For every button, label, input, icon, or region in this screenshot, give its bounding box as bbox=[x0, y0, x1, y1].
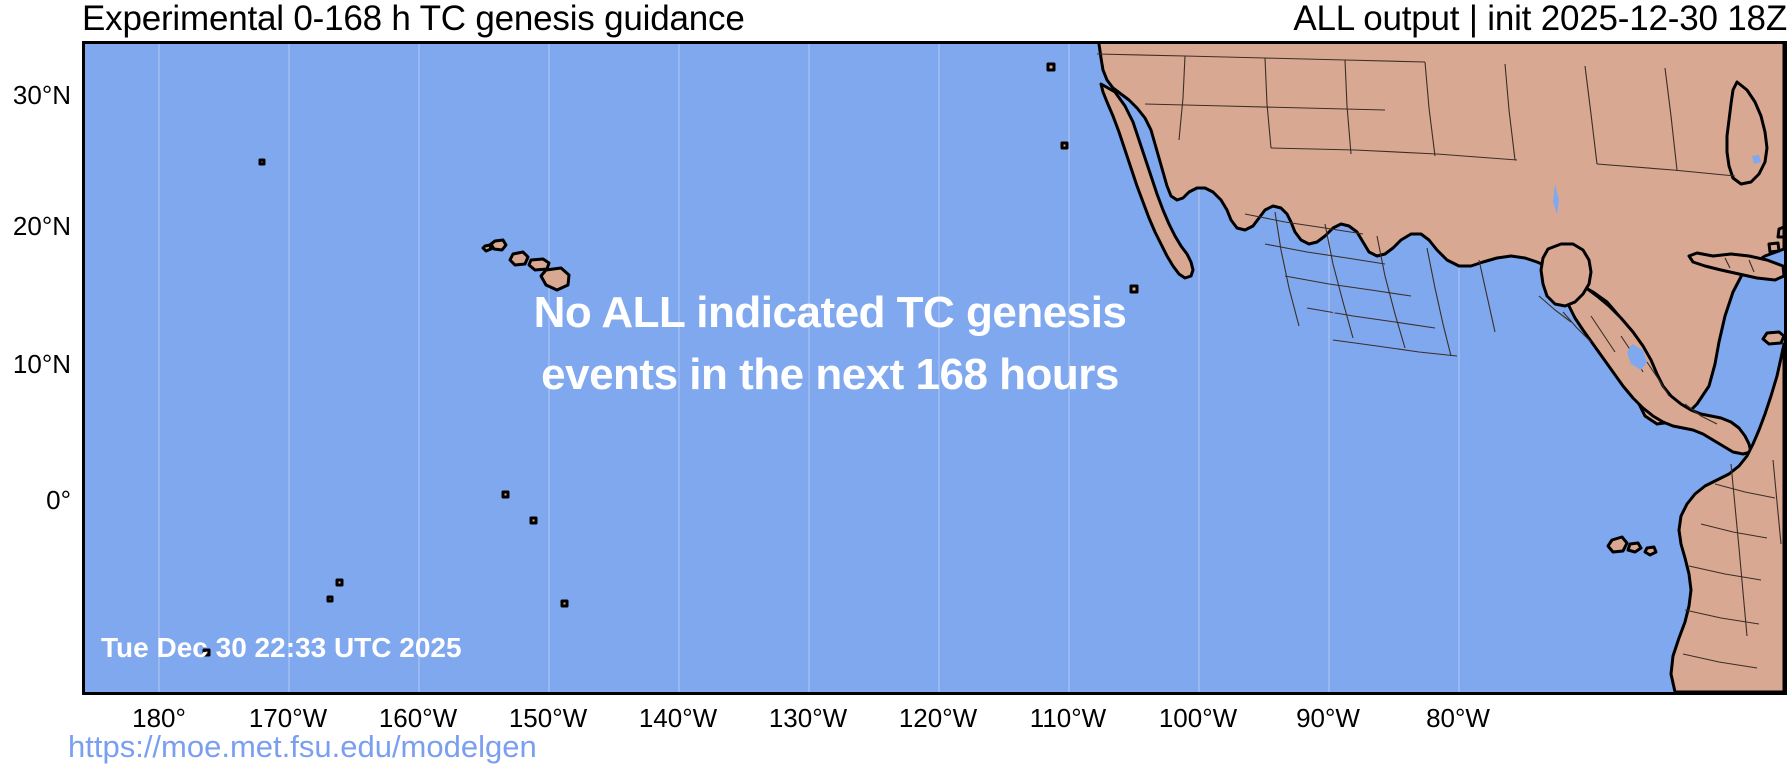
xtick-label-90w: 90°W bbox=[1296, 703, 1360, 734]
map-plot-area: No ALL indicated TC genesis events in th… bbox=[82, 41, 1787, 695]
kauai-island bbox=[491, 240, 506, 250]
xtick-label-100w: 100°W bbox=[1159, 703, 1237, 734]
ytick-label-0: 0° bbox=[0, 485, 71, 516]
xtick-label-110w: 110°W bbox=[1030, 703, 1106, 734]
islet-speck bbox=[1062, 143, 1067, 148]
islet-speck bbox=[260, 160, 264, 164]
islet-speck bbox=[328, 597, 332, 601]
islet-speck bbox=[503, 492, 508, 497]
islet-speck bbox=[1048, 64, 1054, 70]
san-cristobal-island bbox=[1645, 547, 1656, 555]
xtick-label-120w: 120°W bbox=[899, 703, 977, 734]
source-url[interactable]: https://moe.met.fsu.edu/modelgen bbox=[68, 729, 537, 765]
xtick-label-130w: 130°W bbox=[769, 703, 847, 734]
xtick-label-80w: 80°W bbox=[1426, 703, 1490, 734]
ytick-label-20n: 20°N bbox=[0, 211, 71, 242]
ytick-label-10n: 10°N bbox=[0, 349, 71, 380]
tc-genesis-guidance-figure: Experimental 0-168 h TC genesis guidance… bbox=[0, 0, 1789, 768]
islet-speck bbox=[562, 601, 567, 606]
figure-title: Experimental 0-168 h TC genesis guidance bbox=[82, 0, 745, 39]
figure-header: Experimental 0-168 h TC genesis guidance… bbox=[0, 0, 1789, 41]
santa-cruz-island bbox=[1628, 543, 1641, 552]
ytick-label-30n: 30°N bbox=[0, 80, 71, 111]
islet-speck bbox=[1131, 286, 1137, 292]
run-timestamp: Tue Dec 30 22:33 UTC 2025 bbox=[101, 632, 462, 664]
molokai-maui-islands bbox=[529, 259, 549, 270]
oahu-island bbox=[510, 252, 528, 265]
islet-speck bbox=[531, 518, 536, 523]
xtick-label-140w: 140°W bbox=[639, 703, 717, 734]
islet-speck bbox=[337, 580, 342, 585]
map-svg bbox=[85, 44, 1784, 692]
figure-subtitle-init: ALL output | init 2025-12-30 18Z bbox=[1293, 0, 1787, 39]
isabela-island bbox=[1608, 537, 1627, 552]
niihau-island bbox=[483, 245, 491, 251]
jamaica-island bbox=[1763, 332, 1784, 344]
